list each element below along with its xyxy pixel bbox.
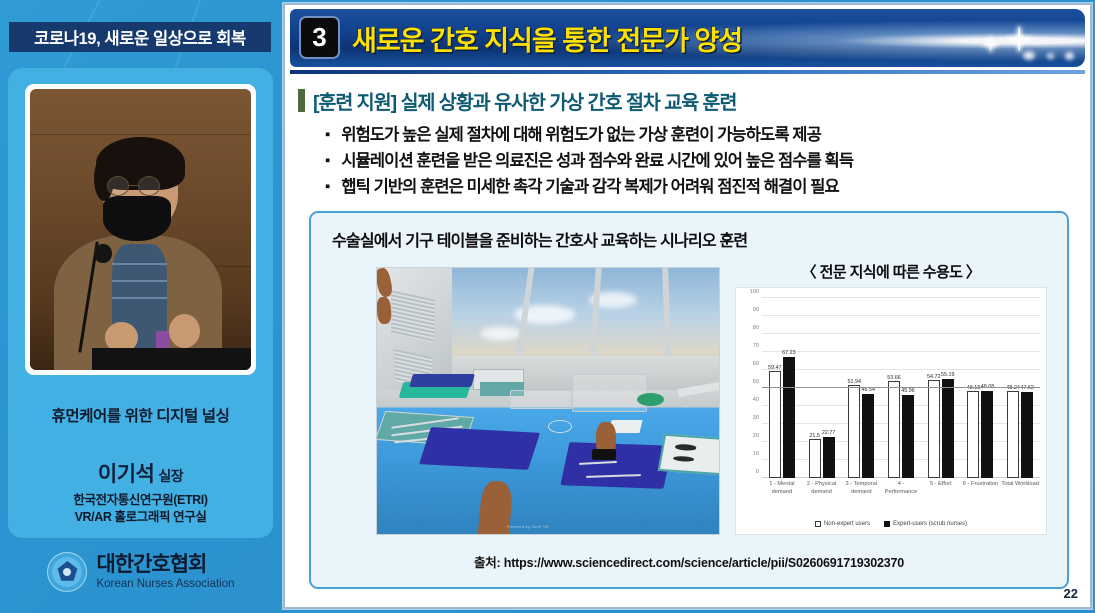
chart-bar-value-label: 51.94 bbox=[848, 379, 862, 385]
vr-metal-ring bbox=[548, 420, 572, 433]
chart-legend-label: Non-expert users bbox=[824, 521, 870, 527]
chart-x-tick-label: 3 - Temporal demand bbox=[841, 480, 881, 508]
vr-wall-vent bbox=[391, 290, 435, 342]
bullet-text: 햅틱 기반의 훈련은 미세한 촉각 기술과 감각 복제가 어려워 점진적 해결이… bbox=[341, 176, 839, 199]
vr-user-finger bbox=[376, 297, 391, 324]
chart-plot-area: 100908070605040302010059.4767.2321.522.7… bbox=[762, 298, 1040, 478]
speaker-role: 실장 bbox=[158, 468, 183, 484]
vr-watermark: Powered by SimX VR bbox=[507, 524, 549, 529]
event-title-banner: 코로나19, 새로운 일상으로 회복 bbox=[9, 22, 271, 52]
chart-bar-value-label: 67.23 bbox=[782, 350, 796, 356]
bullet-list: ▪ 위험도가 높은 실제 절차에 대해 위험도가 없는 가상 훈련이 가능하도록… bbox=[325, 124, 1090, 199]
speaker-video-frame bbox=[25, 84, 256, 375]
chart-bar: 67.23 bbox=[783, 357, 795, 478]
chart-legend: Non-expert usersExpert-users (scrub nurs… bbox=[736, 521, 1046, 527]
vr-glove-cuff bbox=[592, 449, 616, 460]
chart-bar-value-label: 46.54 bbox=[862, 387, 876, 393]
podium bbox=[92, 348, 251, 370]
chart-body: 100908070605040302010059.4767.2321.522.7… bbox=[735, 287, 1047, 535]
sparkle-icon bbox=[1007, 27, 1031, 51]
chart-bar: 21.5 bbox=[809, 439, 821, 478]
event-title-text: 코로나19, 새로운 일상으로 회복 bbox=[34, 25, 246, 49]
chart-bar: 51.94 bbox=[848, 385, 860, 478]
vr-sterile-pad bbox=[419, 427, 541, 470]
scenario-caption: 수술실에서 기구 테이블을 준비하는 간호사 교육하는 시나리오 훈련 bbox=[332, 227, 747, 251]
chart-x-tick-label: 5 - Effort bbox=[921, 480, 961, 508]
bullet-item: ▪ 위험도가 높은 실제 절차에 대해 위험도가 없는 가상 훈련이 가능하도록… bbox=[325, 124, 1090, 147]
bullet-item: ▪ 햅틱 기반의 훈련은 미세한 촉각 기술과 감각 복제가 어려워 점진적 해… bbox=[325, 176, 1090, 199]
chart-bar: 48.08 bbox=[981, 391, 993, 478]
chart-x-tick-label: 4 - Performance bbox=[881, 480, 921, 508]
association-name-ko: 대한간호협회 bbox=[96, 554, 234, 576]
bullet-text: 시뮬레이션 훈련을 받은 의료진은 성과 점수와 완료 시간에 있어 높은 점수… bbox=[341, 150, 853, 173]
chart-bar-value-label: 55.19 bbox=[941, 372, 955, 378]
chart-bar-value-label: 22.77 bbox=[822, 430, 836, 436]
glow-dot-icon bbox=[1065, 52, 1074, 60]
subtitle-accent-bar bbox=[298, 89, 305, 112]
bullet-text: 위험도가 높은 실제 절차에 대해 위험도가 없는 가상 훈련이 가능하도록 제… bbox=[341, 124, 821, 147]
speaker-hand bbox=[169, 314, 200, 348]
chart-bar: 45.96 bbox=[902, 395, 914, 478]
slide-title: 새로운 간호 지식을 통한 전문가 양성 bbox=[352, 17, 742, 59]
chart-x-tick-label: 6 - Frustration bbox=[961, 480, 1001, 508]
speaker-topic: 휴먼케어를 위한 디지털 널싱 bbox=[8, 404, 273, 426]
speaker-glasses bbox=[107, 176, 129, 196]
chart-y-tick-label: 0 bbox=[738, 469, 759, 475]
chart-bar-group: 51.9446.54 bbox=[841, 298, 881, 478]
chart-legend-swatch bbox=[884, 521, 890, 527]
page-number: 22 bbox=[1064, 586, 1078, 601]
slide-header: 3 새로운 간호 지식을 통한 전문가 양성 bbox=[290, 9, 1085, 67]
chart-y-tick-label: 50 bbox=[738, 379, 759, 385]
chart-y-tick-label: 60 bbox=[738, 361, 759, 367]
association-name-en: Korean Nurses Association bbox=[96, 578, 234, 590]
chart-bar: 48.24 bbox=[1007, 391, 1019, 478]
speaker-face-mask bbox=[103, 196, 172, 241]
background-wall-line bbox=[30, 134, 251, 135]
chart-x-labels: 1 - Mental demand2 - Physical demand3 - … bbox=[762, 480, 1040, 508]
slide-subtitle: [훈련 지원] 실제 상황과 유사한 가상 간호 절차 교육 훈련 bbox=[313, 86, 736, 115]
microphone-icon bbox=[94, 244, 112, 264]
chart-y-tick-label: 30 bbox=[738, 415, 759, 421]
chart-x-tick-label: 2 - Physical demand bbox=[802, 480, 842, 508]
chart-x-tick-label: 1 - Mental demand bbox=[762, 480, 802, 508]
chart-legend-item[interactable]: Non-expert users bbox=[815, 521, 870, 527]
chart-bar-value-label: 53.66 bbox=[887, 375, 901, 381]
chart-bar: 48.13 bbox=[967, 391, 979, 478]
speaker-shirt-stripe bbox=[112, 280, 167, 282]
presentation-slide: 3 새로운 간호 지식을 통한 전문가 양성 [훈련 지원] 실제 상황과 유사… bbox=[283, 3, 1092, 609]
speaker-glasses bbox=[138, 176, 160, 196]
chart-legend-label: Expert-users (scrub nurses) bbox=[893, 521, 967, 527]
chart-bar: 53.66 bbox=[888, 381, 900, 478]
chart-bar-value-label: 45.96 bbox=[901, 388, 915, 394]
chart-bar: 46.54 bbox=[862, 394, 874, 478]
speaker-affiliation-line1: 한국전자통신연구원(ETRI) bbox=[8, 492, 273, 509]
speaker-affiliation: 한국전자통신연구원(ETRI) VR/AR 홀로그래픽 연구실 bbox=[8, 492, 273, 526]
chart-bar-group: 48.2447.62 bbox=[1000, 298, 1040, 478]
content-box: 수술실에서 기구 테이블을 준비하는 간호사 교육하는 시나리오 훈련 bbox=[309, 211, 1069, 589]
chart-bar: 54.72 bbox=[928, 380, 940, 478]
speaker-shirt-stripe bbox=[112, 263, 167, 265]
chart-bar-group: 48.1348.08 bbox=[961, 298, 1001, 478]
source-citation: 출처: https://www.sciencedirect.com/scienc… bbox=[311, 552, 1067, 571]
chart-bar-group: 21.522.77 bbox=[802, 298, 842, 478]
chart-bar-group: 59.4767.23 bbox=[762, 298, 802, 478]
chart-x-tick-label: Total Workload bbox=[1000, 480, 1040, 508]
header-underline bbox=[290, 70, 1085, 74]
chart-bars: 59.4767.2321.522.7751.9446.5453.6645.965… bbox=[762, 298, 1040, 478]
speaker-video-thumbnail[interactable] bbox=[30, 89, 251, 370]
speaker-affiliation-line2: VR/AR 홀로그래픽 연구실 bbox=[8, 509, 273, 526]
chart-y-tick-label: 10 bbox=[738, 451, 759, 457]
chart-y-tick-label: 100 bbox=[738, 289, 759, 295]
speaker-name-row: 이기석실장 bbox=[8, 458, 273, 488]
chart-y-tick-label: 90 bbox=[738, 307, 759, 313]
association-logo: 대한간호협회 Korean Nurses Association bbox=[0, 552, 282, 592]
chart-bar: 47.62 bbox=[1021, 392, 1033, 478]
vr-instrument-rack bbox=[572, 374, 647, 411]
speaker-card: 휴먼케어를 위한 디지털 널싱 이기석실장 한국전자통신연구원(ETRI) VR… bbox=[8, 68, 273, 538]
speaker-glasses-bridge bbox=[129, 185, 138, 187]
chart-panel: 〈 전문 지식에 따른 수용도 〉 1009080706050403020100… bbox=[735, 261, 1047, 536]
chart-title: 〈 전문 지식에 따른 수용도 〉 bbox=[735, 261, 1047, 282]
chart-legend-item[interactable]: Expert-users (scrub nurses) bbox=[884, 521, 967, 527]
chart-legend-swatch bbox=[815, 521, 821, 527]
vr-sterile-pad bbox=[561, 442, 673, 488]
left-panel: 코로나19, 새로운 일상으로 회복 bbox=[0, 0, 282, 613]
subtitle-row: [훈련 지원] 실제 상황과 유사한 가상 간호 절차 교육 훈련 bbox=[298, 86, 1090, 115]
chart-bar: 55.19 bbox=[942, 379, 954, 478]
speaker-name: 이기석 bbox=[98, 463, 154, 486]
chart-bar-value-label: 59.47 bbox=[768, 365, 782, 371]
bullet-marker-icon: ▪ bbox=[325, 150, 330, 172]
section-number-badge: 3 bbox=[299, 16, 340, 59]
chart-y-tick-label: 70 bbox=[738, 343, 759, 349]
glow-dot-icon bbox=[1023, 51, 1035, 60]
bullet-marker-icon: ▪ bbox=[325, 176, 330, 198]
chart-gridline bbox=[762, 387, 1040, 388]
bullet-marker-icon: ▪ bbox=[325, 124, 330, 146]
chart-bar-value-label: 54.72 bbox=[927, 374, 941, 380]
association-text: 대한간호협회 Korean Nurses Association bbox=[96, 554, 234, 590]
speaker-shirt-stripe bbox=[112, 297, 167, 299]
vr-simulation-image: Powered by SimX VR bbox=[376, 267, 720, 535]
vr-instrument-basket bbox=[510, 390, 572, 409]
chart-y-tick-label: 20 bbox=[738, 433, 759, 439]
glow-dot-icon bbox=[1047, 53, 1054, 59]
chart-bar-group: 53.6645.96 bbox=[881, 298, 921, 478]
chart-bar-group: 54.7255.19 bbox=[921, 298, 961, 478]
chart-y-tick-label: 40 bbox=[738, 397, 759, 403]
bullet-item: ▪ 시뮬레이션 훈련을 받은 의료진은 성과 점수와 완료 시간에 있어 높은 … bbox=[325, 150, 1090, 173]
nurses-association-emblem-icon bbox=[47, 552, 87, 592]
vr-instrument-tray bbox=[658, 433, 720, 475]
chart-bar: 22.77 bbox=[823, 437, 835, 478]
vr-cloud bbox=[480, 327, 521, 340]
chart-y-tick-label: 80 bbox=[738, 325, 759, 331]
sparkle-icon bbox=[984, 38, 997, 51]
chart-bar-value-label: 21.5 bbox=[809, 433, 820, 439]
vr-surgical-drape bbox=[409, 374, 474, 387]
